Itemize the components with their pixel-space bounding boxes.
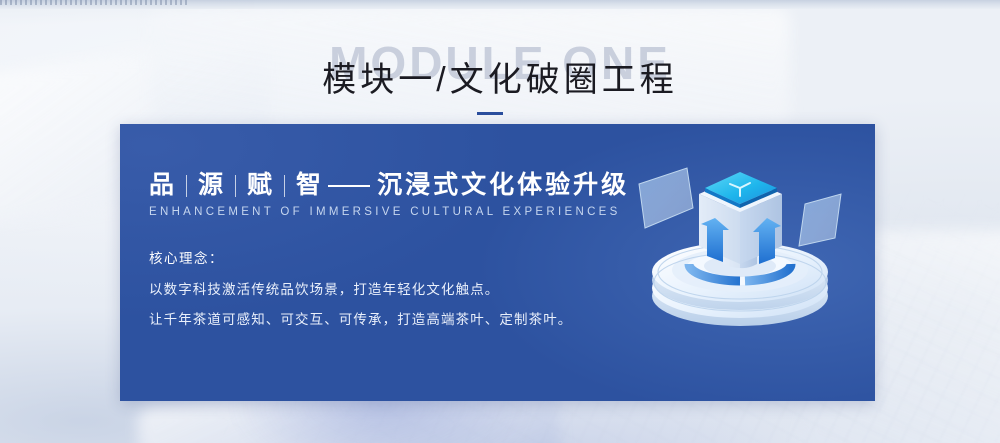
cube-on-platform-illustration (627, 146, 857, 346)
headline-word-2: 源 (198, 172, 224, 200)
headline-separator-2 (235, 175, 236, 197)
ribbon-right-icon (799, 194, 841, 246)
slide-canvas: MODULE ONE 模块一/文化破圈工程 品 源 赋 智 沉浸式文化体验升级 … (0, 0, 1000, 443)
headline-word-1: 品 (149, 172, 175, 200)
headline-em-dash (328, 185, 370, 187)
headline-separator-3 (284, 175, 285, 197)
background-top-band (0, 0, 1000, 9)
panel-subheadline: ENHANCEMENT OF IMMERSIVE CULTURAL EXPERI… (149, 206, 649, 218)
headline-separator-1 (186, 175, 187, 197)
panel-text-block: 品 源 赋 智 沉浸式文化体验升级 ENHANCEMENT OF IMMERSI… (149, 172, 649, 338)
page-title-underline (477, 112, 503, 115)
headline-word-4: 智 (296, 172, 322, 200)
core-concept-line-1: 以数字科技激活传统品饮场景，打造年轻化文化触点。 (149, 278, 649, 298)
core-concept-block: 核心理念： 以数字科技激活传统品饮场景，打造年轻化文化触点。 让千年茶道可感知、… (149, 247, 649, 328)
page-title-group: MODULE ONE 模块一/文化破圈工程 (0, 40, 1000, 120)
core-concept-label: 核心理念： (149, 247, 649, 267)
page-title: 模块一/文化破圈工程 (0, 60, 1000, 101)
core-concept-line-2: 让千年茶道可感知、可交互、可传承，打造高端茶叶、定制茶叶。 (149, 308, 649, 328)
content-panel: 品 源 赋 智 沉浸式文化体验升级 ENHANCEMENT OF IMMERSI… (120, 124, 875, 401)
ribbon-left-icon (639, 168, 693, 228)
headline-word-3: 赋 (247, 172, 273, 200)
panel-headline: 品 源 赋 智 沉浸式文化体验升级 (149, 172, 649, 200)
headline-tail: 沉浸式文化体验升级 (377, 172, 629, 200)
